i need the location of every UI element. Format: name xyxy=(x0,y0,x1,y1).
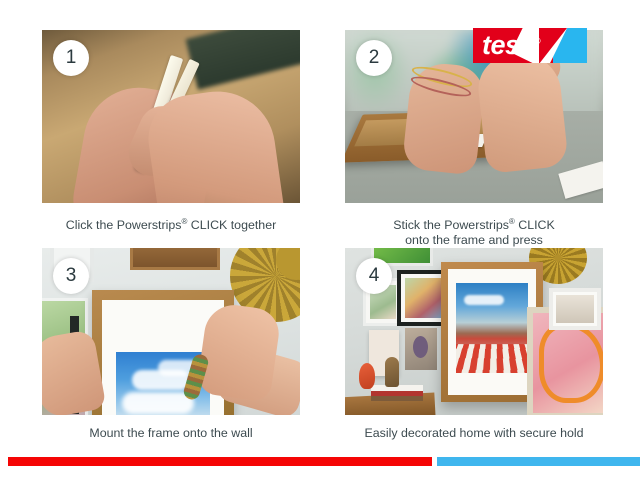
tesa-logo-wordmark: tesa® xyxy=(482,29,540,60)
scene4-striped-plaza-photo xyxy=(456,283,528,373)
step-number-badge-1: 1 xyxy=(53,40,89,76)
step-number-badge-2: 2 xyxy=(356,40,392,76)
scene3-top-frame xyxy=(130,248,220,270)
scene4-red-white-stripes xyxy=(456,344,528,373)
scene4-orange-vase xyxy=(359,363,375,389)
step-4-caption: Easily decorated home with secure hold xyxy=(345,426,603,441)
step-number-badge-3: 3 xyxy=(53,258,89,294)
step-1-photo: 1 xyxy=(42,30,300,203)
footer-bar-blue xyxy=(437,457,640,466)
step-number-badge-4: 4 xyxy=(356,258,392,294)
scene3-cloud-3 xyxy=(122,392,194,414)
step-card-4: 4 Easily decorated home with secure hold xyxy=(345,248,603,441)
step-3-photo: 3 xyxy=(42,248,300,415)
step-card-3: 3 Mount the frame onto the wall xyxy=(42,248,300,441)
step-4-photo: 4 xyxy=(345,248,603,415)
step-2-caption-line1b: CLICK xyxy=(515,218,555,232)
tesa-logo-word: tesa xyxy=(482,29,534,59)
scene4-right-small-frame xyxy=(549,288,601,330)
scene4-orange-squiggle xyxy=(539,323,603,403)
tesa-powerstrips-instruction-graphic: 1 Click the Powerstrips® CLICK together xyxy=(0,0,640,480)
step-2-caption: Stick the Powerstrips® CLICK onto the fr… xyxy=(345,214,603,248)
scene3-sunburst-center xyxy=(276,248,300,280)
scene4-mirror-oval xyxy=(413,336,428,358)
scene4-wooden-figurine xyxy=(385,357,399,387)
step-3-caption: Mount the frame onto the wall xyxy=(42,426,300,441)
tesa-logo-registered-mark: ® xyxy=(534,35,540,45)
scene4-cloud xyxy=(464,295,504,305)
steps-grid: 1 Click the Powerstrips® CLICK together xyxy=(0,0,640,452)
step-1-caption-line1b: CLICK together xyxy=(187,218,276,232)
scene4-book-stack xyxy=(371,385,423,401)
scene4-frame-mat xyxy=(448,269,536,395)
step-1-caption: Click the Powerstrips® CLICK together xyxy=(42,214,300,233)
scene4-right-small-art xyxy=(556,295,594,323)
step-2-caption-line2: onto the frame and press xyxy=(405,233,543,247)
step-1-caption-line1: Click the Powerstrips xyxy=(66,218,182,232)
footer-bar-red xyxy=(8,457,432,466)
scene4-mirror-box xyxy=(405,328,437,370)
step-card-1: 1 Click the Powerstrips® CLICK together xyxy=(42,30,300,233)
step-2-caption-line1: Stick the Powerstrips xyxy=(393,218,509,232)
tesa-logo: tesa® xyxy=(473,28,587,63)
scene4-black-frame-art xyxy=(405,278,443,318)
